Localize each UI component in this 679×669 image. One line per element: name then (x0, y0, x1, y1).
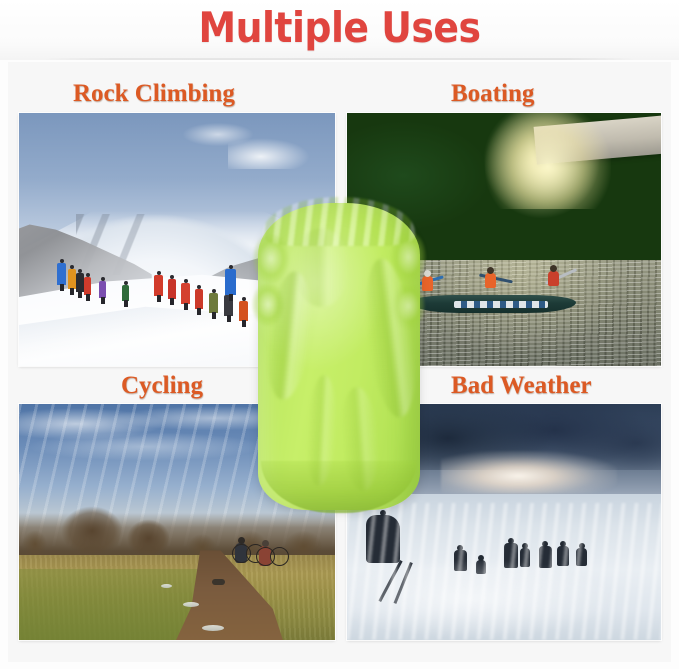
climber-figure (168, 279, 176, 299)
climber-figure (181, 283, 190, 304)
climber-figure (84, 277, 91, 295)
sun-glow (485, 113, 611, 209)
climber-figure (68, 269, 76, 289)
climber-figure (239, 301, 248, 321)
climber-figure (122, 285, 129, 301)
section-label-rock-climbing: Rock Climbing (73, 79, 235, 109)
field-green-layer (19, 569, 202, 640)
climber-figure (76, 273, 84, 292)
bicycle-wheel (270, 547, 289, 566)
infographic-page: Multiple Uses Rock Climbing Boating Cycl… (0, 0, 679, 669)
page-title: Multiple Uses (0, 2, 679, 54)
light-break (441, 451, 617, 493)
kayak-stripe (454, 301, 548, 308)
backpack-rain-cover-product (258, 203, 420, 510)
climber-figure (57, 263, 66, 285)
section-label-bad-weather: Bad Weather (451, 371, 592, 401)
climber-figure (99, 281, 106, 298)
climber-figure (195, 289, 203, 309)
elastic-gather (253, 234, 289, 283)
title-band: Multiple Uses (0, 0, 679, 60)
water-reflection (441, 260, 642, 366)
fabric-highlight (294, 228, 349, 308)
puddle (202, 625, 224, 631)
blowing-snow-layer (347, 503, 661, 640)
cloud-icon (183, 123, 253, 146)
section-label-cycling: Cycling (121, 371, 203, 401)
section-label-boating: Boating (451, 79, 534, 109)
climber-figure (225, 269, 236, 295)
dog-figure (212, 579, 225, 585)
climber-figure (209, 293, 218, 313)
climber-figure (154, 275, 163, 296)
